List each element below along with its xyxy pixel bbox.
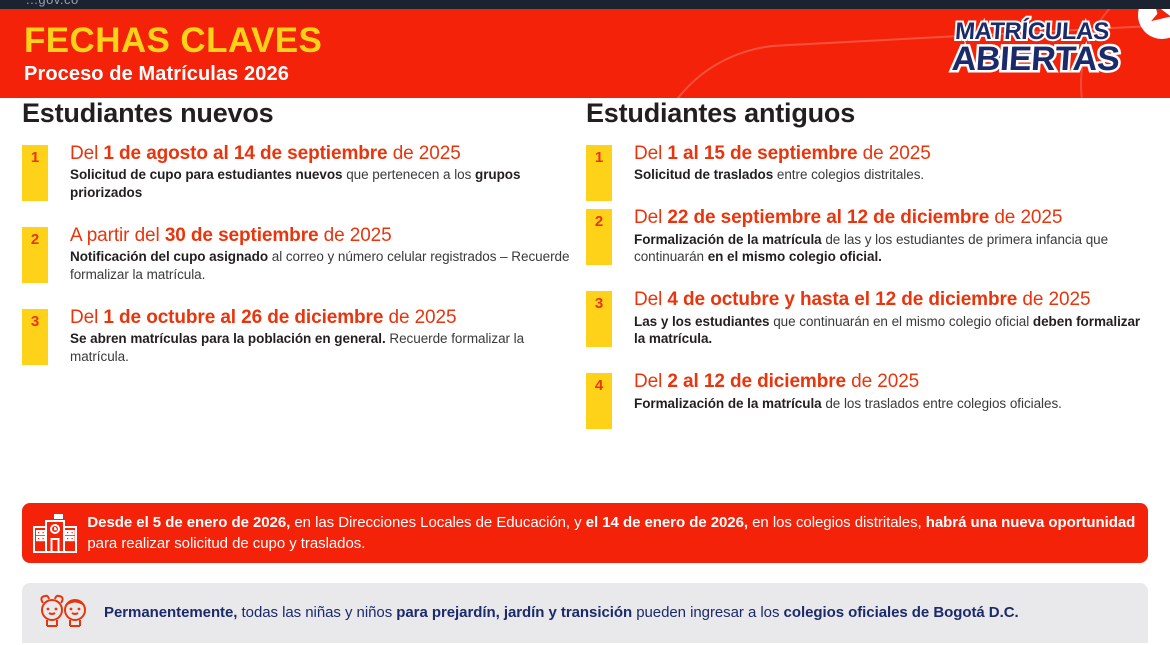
step-number: 3 [31, 309, 39, 329]
notice-banner-enero: Desde el 5 de enero de 2026, en las Dire… [22, 503, 1148, 563]
matriculas-abiertas-logo: MATRÍCULAS ABIERTAS [952, 20, 1112, 88]
date-year: de 2025 [858, 143, 931, 164]
date-year: de 2025 [383, 307, 456, 328]
date-prefix: Del [634, 143, 667, 164]
desc-bold: Solicitud de traslados [634, 167, 773, 182]
step-number: 1 [31, 145, 39, 165]
notice-text-2: pueden ingresar a los [632, 604, 783, 621]
notice-text-2: en los colegios distritales, [748, 514, 926, 531]
timeline-item: 4 Del 2 al 12 de diciembre de 2025 Forma… [586, 371, 1148, 412]
logo-line-2: ABIERTAS [951, 42, 1113, 76]
date-prefix: Del [70, 307, 103, 328]
notice-bold-1: Permanentemente, [104, 604, 237, 621]
desc-text: entre colegios distritales. [773, 167, 924, 182]
item-date: Del 1 de octubre al 26 de diciembre de 2… [70, 307, 584, 329]
column-heading: Estudiantes nuevos [22, 98, 584, 129]
timeline-item: 3 Del 4 de octubre y hasta el 12 de dici… [586, 289, 1148, 348]
column-estudiantes-antiguos: Estudiantes antiguos 1 Del 1 al 15 de se… [586, 98, 1148, 436]
step-badge: 4 [586, 373, 612, 429]
item-description: Se abren matrículas para la población en… [70, 330, 584, 366]
item-description: Solicitud de cupo para estudiantes nuevo… [70, 166, 584, 202]
step-badge: 3 [22, 309, 48, 365]
date-prefix: A partir del [70, 225, 165, 246]
step-badge: 2 [22, 227, 48, 283]
date-range: 1 de agosto al 14 de septiembre [103, 143, 387, 164]
timeline-item: 3 Del 1 de octubre al 26 de diciembre de… [22, 307, 584, 366]
date-range: 30 de septiembre [165, 225, 319, 246]
notice-bold-2: el 14 de enero de 2026, [586, 514, 748, 531]
url-text: ...gov.co [26, 0, 79, 7]
step-number: 1 [595, 145, 603, 165]
date-range: 2 al 12 de diciembre [667, 371, 846, 392]
step-number: 2 [595, 209, 603, 229]
item-description: Formalización de la matrícula de las y l… [634, 231, 1148, 267]
desc-bold: Las y los estudiantes [634, 314, 770, 329]
desc-text: de los traslados entre colegios oficiale… [822, 396, 1062, 411]
desc-bold: Se abren matrículas para la población en… [70, 331, 386, 346]
item-date: Del 22 de septiembre al 12 de diciembre … [634, 207, 1148, 229]
item-description: Las y los estudiantes que continuarán en… [634, 313, 1148, 349]
date-prefix: Del [634, 289, 667, 310]
step-number: 2 [31, 227, 39, 247]
date-year: de 2025 [318, 225, 391, 246]
desc-text: que continuarán en el mismo colegio ofic… [770, 314, 1033, 329]
date-prefix: Del [634, 371, 667, 392]
date-year: de 2025 [846, 371, 919, 392]
step-badge: 2 [586, 209, 612, 265]
school-building-icon [22, 512, 87, 554]
notice-text-3: para realizar solicitud de cupo y trasla… [87, 535, 365, 552]
corner-swoosh-badge: ➤ [1138, 9, 1170, 39]
date-range: 1 de octubre al 26 de diciembre [103, 307, 383, 328]
date-range: 4 de octubre y hasta el 12 de diciembre [667, 289, 1017, 310]
browser-chrome-sliver: ...gov.co [0, 0, 1170, 9]
step-badge: 1 [586, 145, 612, 201]
item-date: Del 1 al 15 de septiembre de 2025 [634, 143, 1148, 165]
date-prefix: Del [634, 207, 667, 228]
item-date: A partir del 30 de septiembre de 2025 [70, 225, 584, 247]
timeline-item: 2 Del 22 de septiembre al 12 de diciembr… [586, 207, 1148, 266]
item-description: Formalización de la matrícula de los tra… [634, 395, 1148, 413]
desc-bold: Formalización de la matrícula [634, 232, 822, 247]
item-date: Del 4 de octubre y hasta el 12 de diciem… [634, 289, 1148, 311]
date-year: de 2025 [388, 143, 461, 164]
infographic-page: ...gov.co FECHAS CLAVES Proceso de Matrí… [0, 0, 1170, 645]
notice-bold-3: colegios oficiales de Bogotá D.C. [784, 604, 1019, 621]
notice-text: Desde el 5 de enero de 2026, en las Dire… [87, 512, 1148, 555]
two-children-icon [22, 593, 104, 633]
notice-bold-3: habrá una nueva oportunidad [926, 514, 1136, 531]
timeline-item: 2 A partir del 30 de septiembre de 2025 … [22, 225, 584, 284]
desc-bold: Notificación del cupo asignado [70, 249, 268, 264]
notice-text-1: todas las niñas y niños [237, 604, 396, 621]
item-date: Del 1 de agosto al 14 de septiembre de 2… [70, 143, 584, 165]
desc-text: que pertenecen a los [343, 167, 476, 182]
page-title: FECHAS CLAVES [24, 23, 322, 58]
column-estudiantes-nuevos: Estudiantes nuevos 1 Del 1 de agosto al … [22, 98, 584, 389]
timeline-item: 1 Del 1 al 15 de septiembre de 2025 Soli… [586, 143, 1148, 184]
date-prefix: Del [70, 143, 103, 164]
step-number: 4 [595, 373, 603, 393]
header-band: FECHAS CLAVES Proceso de Matrículas 2026… [0, 9, 1170, 98]
notice-text-1: en las Direcciones Locales de Educación,… [290, 514, 585, 531]
date-range: 22 de septiembre al 12 de diciembre [667, 207, 989, 228]
page-subtitle: Proceso de Matrículas 2026 [24, 64, 289, 84]
desc-bold-2: en el mismo colegio oficial. [708, 249, 882, 264]
item-description: Solicitud de traslados entre colegios di… [634, 166, 1148, 184]
item-description: Notificación del cupo asignado al correo… [70, 248, 584, 284]
step-badge: 1 [22, 145, 48, 201]
desc-bold: Formalización de la matrícula [634, 396, 822, 411]
timeline-columns: Estudiantes nuevos 1 Del 1 de agosto al … [0, 98, 1170, 498]
date-range: 1 al 15 de septiembre [667, 143, 857, 164]
step-number: 3 [595, 291, 603, 311]
swoosh-icon: ➤ [1149, 9, 1170, 29]
item-date: Del 2 al 12 de diciembre de 2025 [634, 371, 1148, 393]
step-badge: 3 [586, 291, 612, 347]
notice-bold-2: para prejardín, jardín y transición [396, 604, 632, 621]
timeline-item: 1 Del 1 de agosto al 14 de septiembre de… [22, 143, 584, 202]
column-heading: Estudiantes antiguos [586, 98, 1148, 129]
date-year: de 2025 [989, 207, 1062, 228]
notice-banner-permanente: Permanentemente, todas las niñas y niños… [22, 583, 1148, 643]
notice-bold-1: Desde el 5 de enero de 2026, [87, 514, 290, 531]
notice-text: Permanentemente, todas las niñas y niños… [104, 602, 1019, 623]
date-year: de 2025 [1017, 289, 1090, 310]
desc-bold: Solicitud de cupo para estudiantes nuevo… [70, 167, 343, 182]
